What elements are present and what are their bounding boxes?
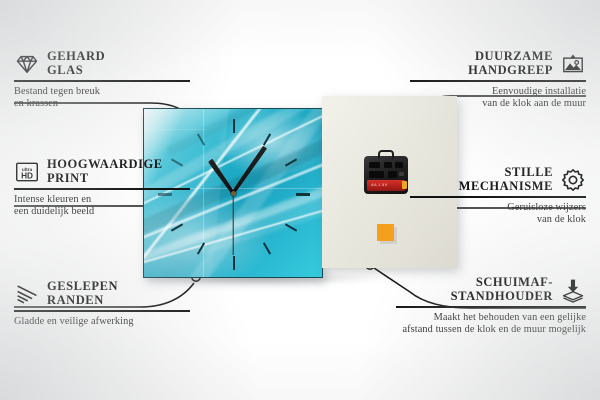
- feature-duurzame-handgreep: DUURZAME HANDGREEP Eenvoudige installati…: [410, 50, 586, 110]
- svg-text:HD: HD: [21, 171, 33, 180]
- clock-tick-6: [233, 256, 235, 270]
- feature-desc-line2: van de klok aan de muur: [410, 98, 586, 110]
- feature-desc-line1: Eenvoudige installatie: [410, 86, 586, 98]
- feature-stille-mechanisme: STILLE MECHANISME Geruisloze wijzers van…: [410, 166, 586, 226]
- feature-desc-line1: Bestand tegen breuk: [14, 86, 190, 98]
- ultra-hd-icon: ultra HD: [14, 159, 40, 185]
- feature-hoogwaardige-print: ultra HD HOOGWAARDIGE PRINT Intense kleu…: [14, 158, 190, 218]
- picture-frame-icon: [560, 51, 586, 77]
- feature-title-line2: STANDHOUDER: [451, 290, 553, 304]
- press-down-spacer-icon: [560, 277, 586, 303]
- feature-title-line2: RANDEN: [47, 294, 118, 308]
- feature-desc-line1: Maakt het behouden van een gelijke: [396, 312, 586, 324]
- battery-positive-terminal: [402, 181, 407, 189]
- feature-divider: [14, 310, 190, 312]
- feature-divider: [14, 80, 190, 82]
- feature-schuimafstandhouder: SCHUIMAF- STANDHOUDER Maakt het behouden…: [396, 276, 586, 336]
- clock-tick-12: [233, 119, 235, 133]
- feature-desc-line2: van de klok: [410, 214, 586, 226]
- mechanism-hanger: [378, 150, 394, 159]
- feature-divider: [410, 80, 586, 82]
- feature-title-line1: STILLE: [459, 166, 553, 180]
- clock-second-hand: [232, 193, 233, 255]
- feature-gehard-glas: GEHARD GLAS Bestand tegen breuk en krass…: [14, 50, 190, 110]
- feature-title-line1: DUURZAME: [468, 50, 553, 64]
- feature-title-line2: GLAS: [47, 64, 105, 78]
- aa-battery: AA 1.5V: [367, 180, 405, 191]
- infographic-canvas: AA 1.5V GEHARD GLAS Bestand tegen breuk: [0, 0, 600, 400]
- quartz-mechanism: AA 1.5V: [364, 156, 408, 194]
- feature-desc-line2: afstand tussen de klok en de muur mogeli…: [396, 324, 586, 336]
- battery-label: AA 1.5V: [371, 182, 388, 187]
- feature-desc-line1: Gladde en veilige afwerking: [14, 316, 190, 328]
- beveled-edges-icon: [14, 281, 40, 307]
- feature-title-line2: PRINT: [47, 172, 163, 186]
- feature-divider: [410, 196, 586, 198]
- feature-divider: [396, 306, 586, 308]
- diamond-icon: [14, 51, 40, 77]
- feature-geslepen-randen: GESLEPEN RANDEN Gladde en veilige afwerk…: [14, 280, 190, 328]
- clock-tick-5: [263, 242, 271, 254]
- clock-center-pivot: [231, 191, 236, 196]
- gear-icon: [560, 167, 586, 193]
- feature-title-line1: GEHARD: [47, 50, 105, 64]
- feature-divider: [14, 188, 190, 190]
- feature-desc-line1: Geruisloze wijzers: [410, 202, 586, 214]
- feature-title-line1: SCHUIMAF-: [451, 276, 553, 290]
- feature-desc-line2: en krassen: [14, 98, 190, 110]
- clock-tick-3: [296, 193, 310, 196]
- feature-desc-line1: Intense kleuren en: [14, 194, 190, 206]
- feature-desc-line2: een duidelijk beeld: [14, 206, 190, 218]
- feature-title-line2: MECHANISME: [459, 180, 553, 194]
- feature-title-line2: HANDGREEP: [468, 64, 553, 78]
- foam-spacer: [377, 224, 394, 241]
- feature-title-line1: HOOGWAARDIGE: [47, 158, 163, 172]
- feature-title-line1: GESLEPEN: [47, 280, 118, 294]
